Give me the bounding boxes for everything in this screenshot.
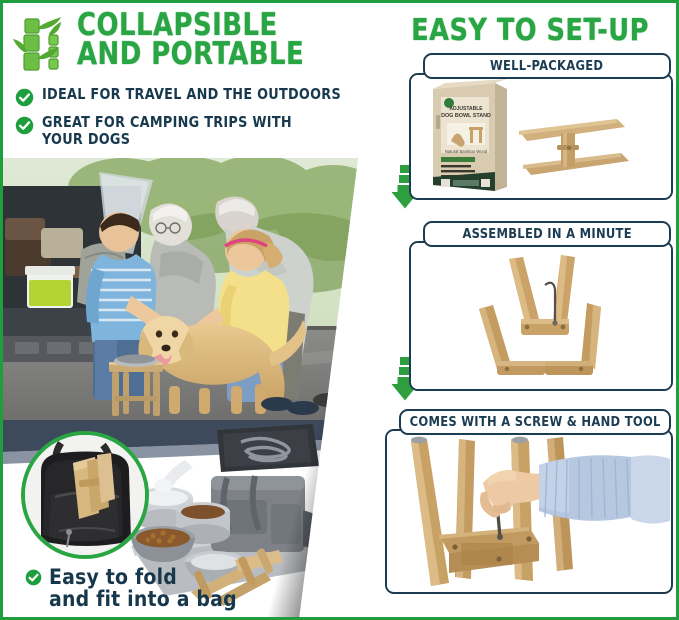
step-image: ADJUSTABLE DOG BOWL STAND Natural Bamboo… [409, 73, 673, 200]
check-circle-icon [15, 88, 34, 107]
family-outdoors-photo [3, 158, 378, 420]
headline-block: COLLAPSIBLE AND PORTABLE IDEAL FOR TRAVE… [3, 3, 378, 156]
bullet-label: GREAT FOR CAMPING TRIPS WITH YOUR DOGS [42, 114, 292, 149]
step-card-well-packaged: WELL-PACKAGED ADJUSTABLE DOG BOWL STAND [409, 53, 673, 200]
svg-text:Natural Bamboo Wood: Natural Bamboo Wood [445, 149, 488, 154]
step-card-screw-tool: COMES WITH A SCREW & HAND TOOL [385, 409, 673, 594]
left-panel: COLLAPSIBLE AND PORTABLE IDEAL FOR TRAVE… [3, 3, 378, 617]
page-title: COLLAPSIBLE AND PORTABLE [77, 11, 304, 68]
bullet-label: IDEAL FOR TRAVEL AND THE OUTDOORS [42, 86, 341, 103]
step-header-label: WELL-PACKAGED [490, 58, 603, 74]
check-circle-icon [25, 569, 42, 586]
list-item: IDEAL FOR TRAVEL AND THE OUTDOORS [15, 86, 378, 107]
fold-caption: Easy to fold and fit into a bag [25, 566, 237, 610]
svg-text:DOG BOWL STAND: DOG BOWL STAND [441, 113, 491, 119]
feature-bullet-list: IDEAL FOR TRAVEL AND THE OUTDOORS GREAT … [15, 86, 378, 149]
section-title: EASY TO SET-UP [396, 13, 664, 48]
fold-caption-label: Easy to fold and fit into a bag [49, 566, 237, 610]
step-header: COMES WITH A SCREW & HAND TOOL [399, 409, 671, 435]
check-circle-icon [15, 116, 34, 135]
step-card-assembled: ASSEMBLED IN A MINUTE [409, 221, 673, 391]
list-item: GREAT FOR CAMPING TRIPS WITH YOUR DOGS [15, 114, 378, 149]
step-header-label: COMES WITH A SCREW & HAND TOOL [409, 414, 660, 430]
bamboo-icon [13, 13, 71, 77]
step-image [385, 429, 673, 594]
right-panel: EASY TO SET-UP WELL-PACKAGED [381, 3, 679, 617]
backpack-inset-photo [21, 431, 149, 559]
step-header: WELL-PACKAGED [423, 53, 671, 79]
step-header-label: ASSEMBLED IN A MINUTE [462, 226, 631, 242]
svg-text:ADJUSTABLE: ADJUSTABLE [449, 106, 483, 112]
step-header: ASSEMBLED IN A MINUTE [423, 221, 671, 247]
step-image [409, 241, 673, 391]
headline-line-2: AND PORTABLE [77, 40, 304, 69]
product-infographic: COLLAPSIBLE AND PORTABLE IDEAL FOR TRAVE… [0, 0, 679, 620]
